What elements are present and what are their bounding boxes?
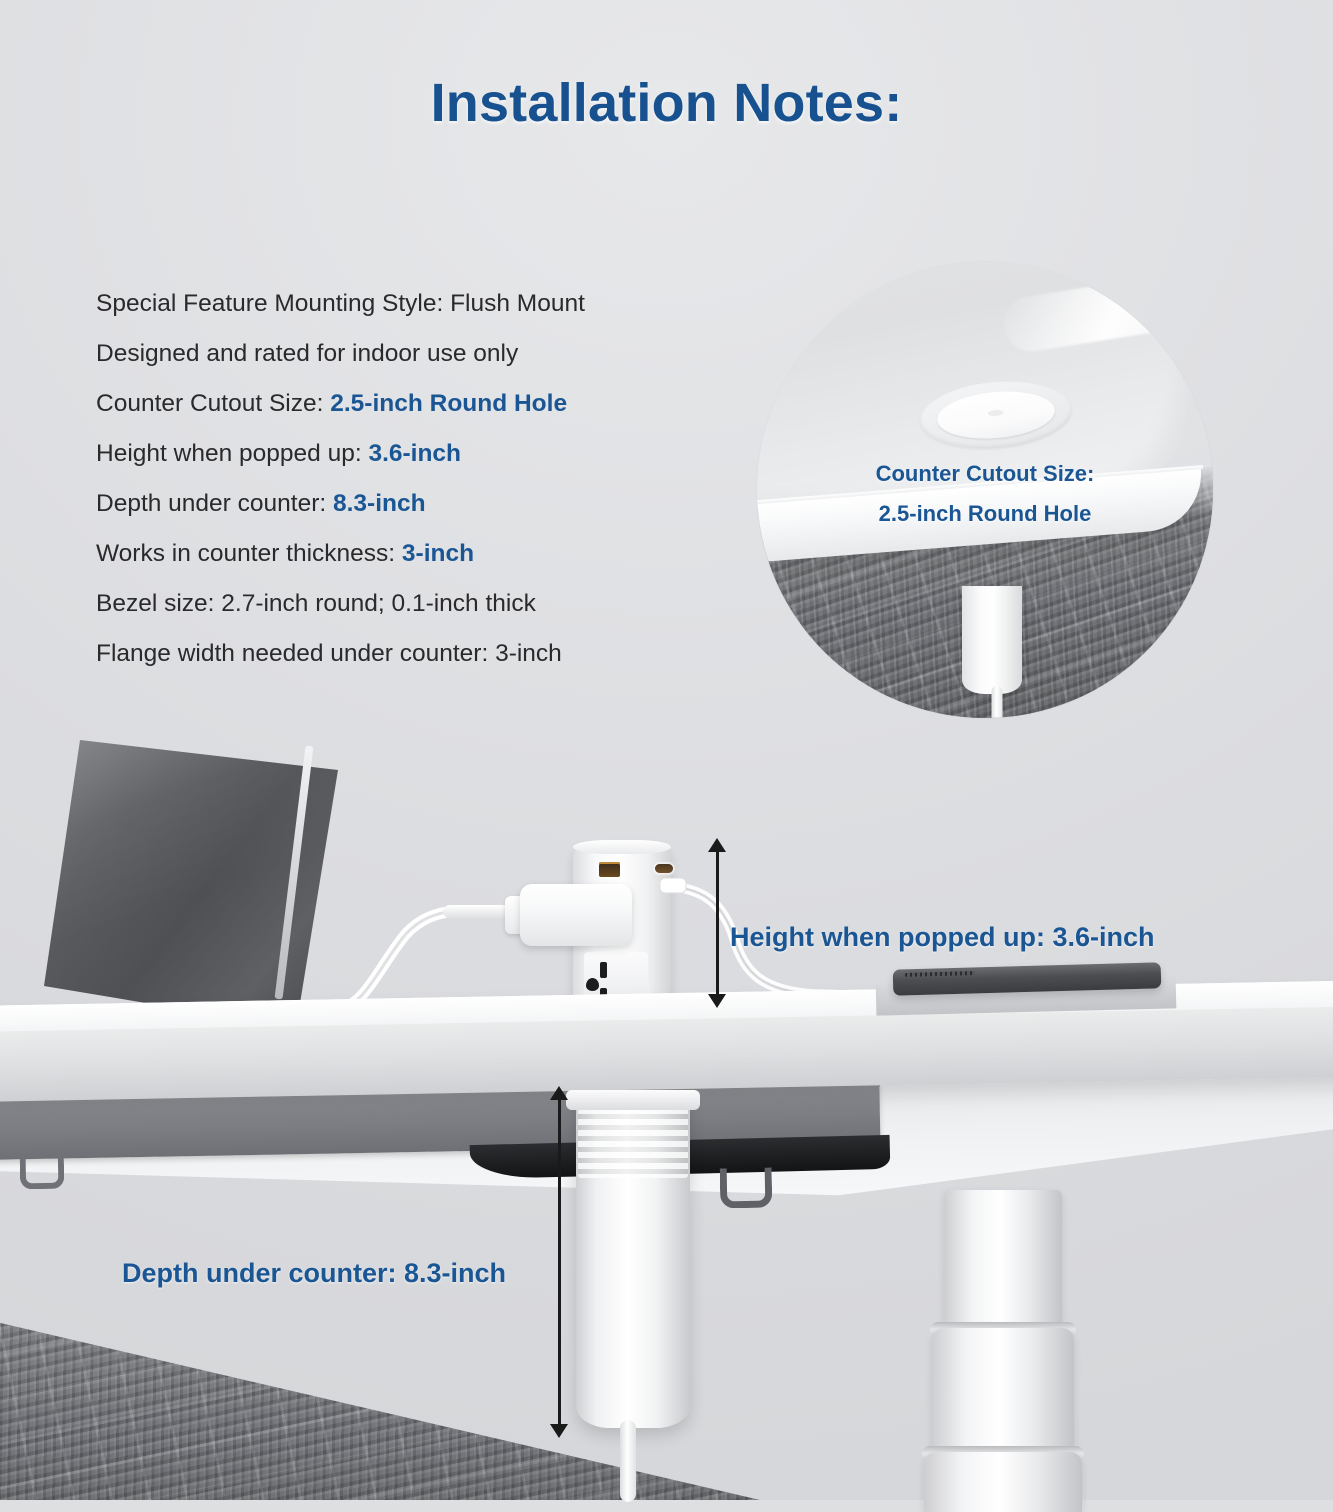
infographic-page: Installation Notes: Special Feature Moun… [0,0,1333,1500]
spec-label: Bezel size: 2.7-inch round; 0.1-inch thi… [96,590,536,617]
ac-slot-left-icon [600,962,607,978]
usb-a-port-icon[interactable] [599,862,620,877]
depth-arrow-up-icon [550,1086,568,1100]
height-arrow-up-icon [708,838,726,852]
ac-ground-pin-icon [586,978,599,991]
spec-line: Bezel size: 2.7-inch round; 0.1-inch thi… [96,592,716,617]
depth-arrow-down-icon [550,1424,568,1438]
spec-label: Height when popped up: [96,440,368,467]
height-annotation-label: Height when popped up: 3.6-inch [730,922,1155,953]
height-arrow-down-icon [708,994,726,1008]
spec-line: Height when popped up: 3.6-inch [96,442,716,467]
spec-label: Works in counter thickness: [96,540,402,567]
inset-under-counter-tube [962,586,1022,694]
depth-annotation-label: Depth under counter: 8.3-inch [122,1258,506,1289]
inset-cap-mark [988,409,1004,416]
cable-hook [20,1155,65,1190]
spec-label: Special Feature Mounting Style: Flush Mo… [96,290,585,317]
inset-flush-cap [936,387,1058,443]
depth-dimension-line [558,1092,561,1432]
spec-line: Designed and rated for indoor use only [96,342,716,367]
spec-line: Counter Cutout Size: 2.5-inch Round Hole [96,392,716,417]
desk-leg-segment-top [944,1190,1062,1338]
spec-label: Flange width needed under counter: 3-inc… [96,640,562,667]
cable-hook [720,1168,773,1209]
spec-line: Flange width needed under counter: 3-inc… [96,642,716,667]
usb-c-port-icon[interactable] [655,864,673,873]
spec-line: Special Feature Mounting Style: Flush Mo… [96,292,716,317]
inset-power-cable [991,686,1002,718]
spec-line: Depth under counter: 8.3-inch [96,492,716,517]
spec-highlight: 8.3-inch [333,490,426,517]
desk-leg-segment-mid [932,1328,1074,1460]
under-counter-flange [566,1090,700,1110]
spec-line: Works in counter thickness: 3-inch [96,542,716,567]
spec-label: Counter Cutout Size: [96,390,330,417]
power-adapter [520,884,632,946]
adapter-cable [443,905,513,918]
spec-highlight: 2.5-inch Round Hole [330,390,567,417]
height-dimension-line [716,844,719,1000]
spec-label: Designed and rated for indoor use only [96,340,518,367]
under-counter-power-cable [620,1420,636,1502]
spec-highlight: 3.6-inch [368,440,461,467]
spec-label: Depth under counter: [96,490,333,517]
circular-photo-inset: Counter Cutout Size: 2.5-inch Round Hole [757,262,1213,718]
outlet-top-cap [573,840,671,854]
spec-list: Special Feature Mounting Style: Flush Mo… [96,292,716,692]
under-counter-threads [578,1108,688,1178]
page-title: Installation Notes: [0,72,1333,134]
spec-highlight: 3-inch [402,540,474,567]
desk-leg-segment-bottom [924,1452,1082,1512]
